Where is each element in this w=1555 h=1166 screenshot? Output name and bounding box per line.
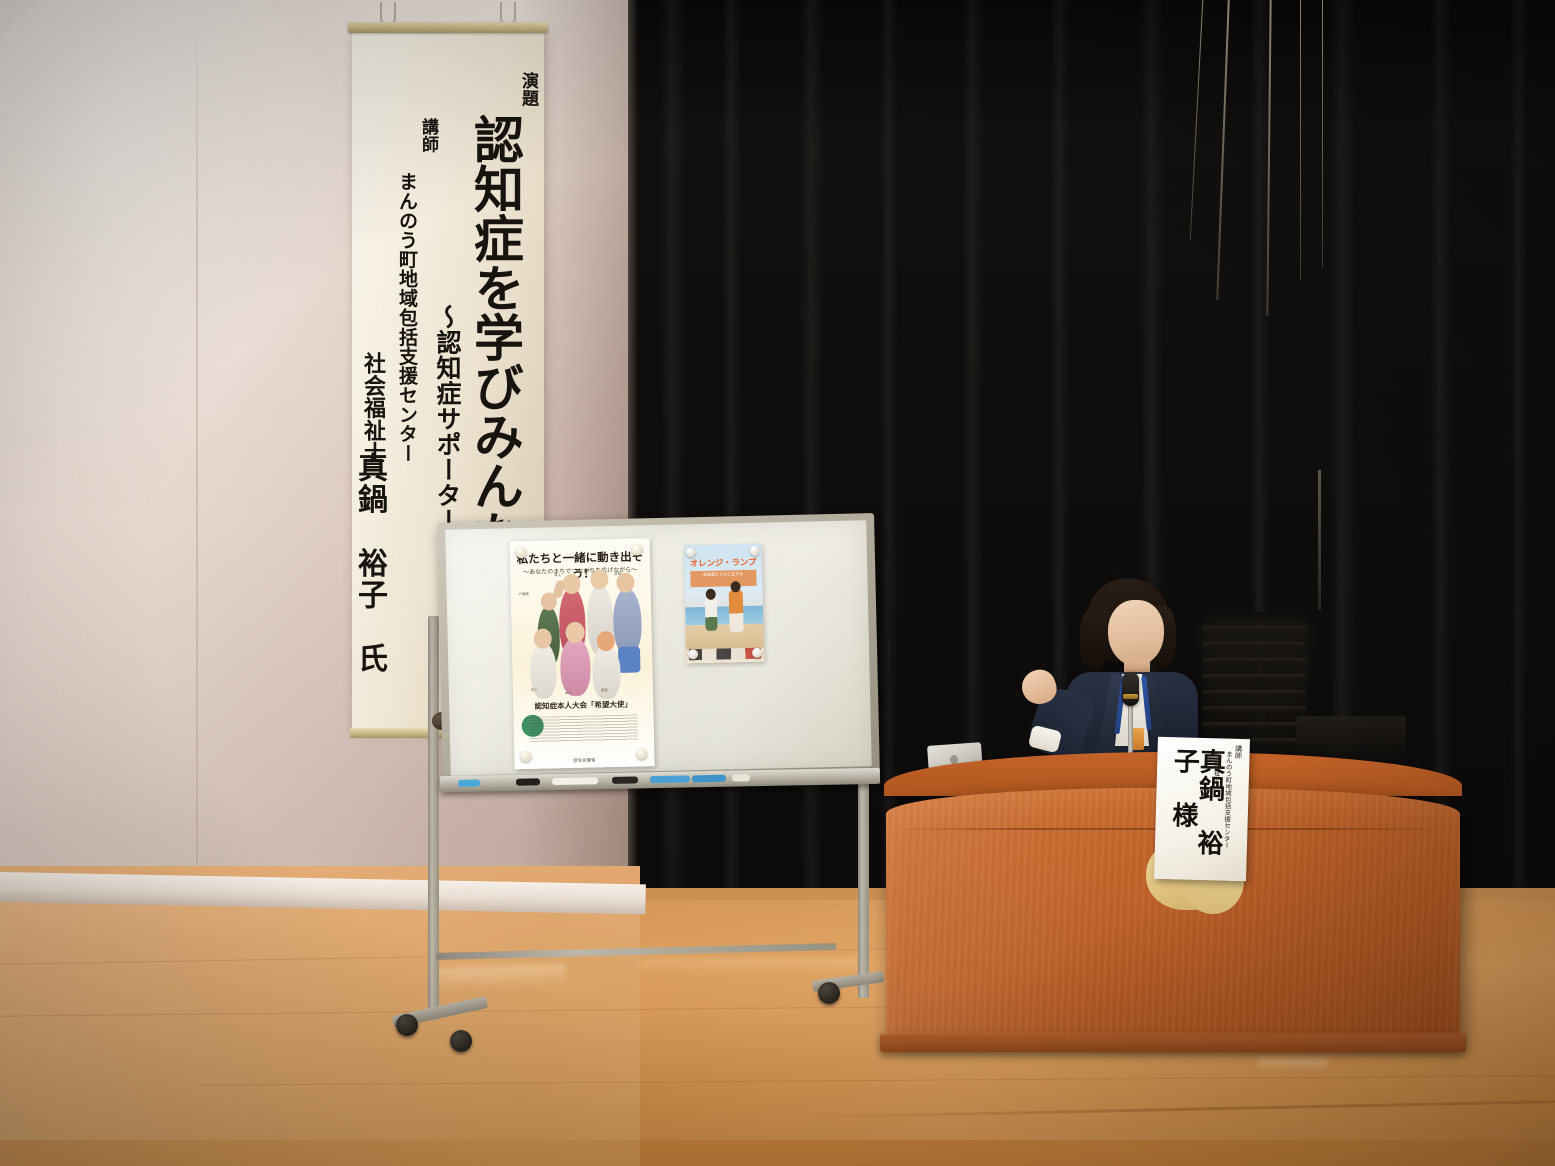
whiteboard-caster [396,1014,418,1036]
marker-black[interactable] [612,776,638,783]
poster-person-legs [618,646,641,672]
curtain-top-valance [628,0,1555,120]
photo-scene: 演題 認知症を学びみんなで考 〜認知症サポーター 講師 まんのう町地域包括支援セ… [0,0,1555,1166]
mobile-whiteboard: 私たちと一緒に動き出そう! 〜あなたのまちでつながりを広げながら〜 介護者 本人… [437,513,880,785]
podium-base [880,1032,1466,1052]
poster-person [560,638,591,697]
marker-blue[interactable] [692,775,726,783]
poster-movie-sea [685,606,763,626]
microphone-stand [1128,700,1133,758]
marker-blue[interactable] [458,779,480,786]
poster-movie-figure [705,597,718,631]
curtain-left-edge [628,0,638,1000]
magnet-icon[interactable] [750,546,760,556]
banner-topic-label: 演題 [519,72,536,107]
banner-top-rod [348,22,548,33]
curtain-pleat [722,0,742,1000]
banner-lecturer-label: 講師 [419,118,436,153]
floor-reflection [1258,1058,1328,1070]
poster-person [613,588,642,655]
poster-dementia-campaign: 私たちと一緒に動き出そう! 〜あなたのまちでつながりを広げながら〜 介護者 本人… [510,538,655,769]
curtain-pleat [660,0,686,1000]
rigging-cable [1300,0,1301,280]
marker-blue[interactable] [650,775,690,783]
banner-speaker-name: 真鍋 裕子 氏 [354,452,384,675]
nameplate-role-label: 講師 [1233,745,1243,759]
poster-movie-sand [685,624,764,650]
floor-reflection [436,964,567,991]
whiteboard-caster [450,1030,472,1052]
speaker-face [1108,600,1164,666]
banner-subtitle: 〜認知症サポーター [435,304,460,534]
marker-black[interactable] [516,778,540,785]
poster-footer-text: 認知症本人大会「希望大使」 [513,698,653,712]
magnet-icon[interactable] [686,547,696,557]
speaker-hair-left [1080,608,1110,670]
whiteboard-caster [818,982,840,1004]
rigging-cable [1318,470,1321,610]
speaker-nameplate: 真鍋 裕子 様 講師 まんのう町地域包括支援センター 社会福祉士 [1154,737,1250,882]
poster-movie-figure [729,590,744,632]
marker-white[interactable] [732,774,750,781]
floor-reflection [640,958,860,972]
poster-body-text [530,714,639,742]
curtain-pleat [1510,0,1528,1000]
nameplate-qualification: 社会福祉士 [1211,750,1222,783]
poster-orange-lamp: オレンジ・ランプ 認知症とともに生きる [684,544,765,664]
poster-movie-title: オレンジ・ランプ [684,556,762,570]
poster-logo: 厚生労働省 [514,756,654,765]
poster-movie-credits [689,648,761,661]
wall-panel-seam [196,0,198,888]
rigging-cable [1322,0,1323,268]
microphone-icon [1122,672,1139,706]
banner-organization: まんのう町地域包括支援センター [397,172,416,463]
nameplate-organization: まんのう町地域包括支援センター [1221,751,1234,849]
microphone-band [1123,694,1138,699]
whiteboard-eraser[interactable] [552,777,598,785]
banner-qualification: 社会福祉士 [362,352,384,464]
curtain-pleat [800,0,824,1000]
